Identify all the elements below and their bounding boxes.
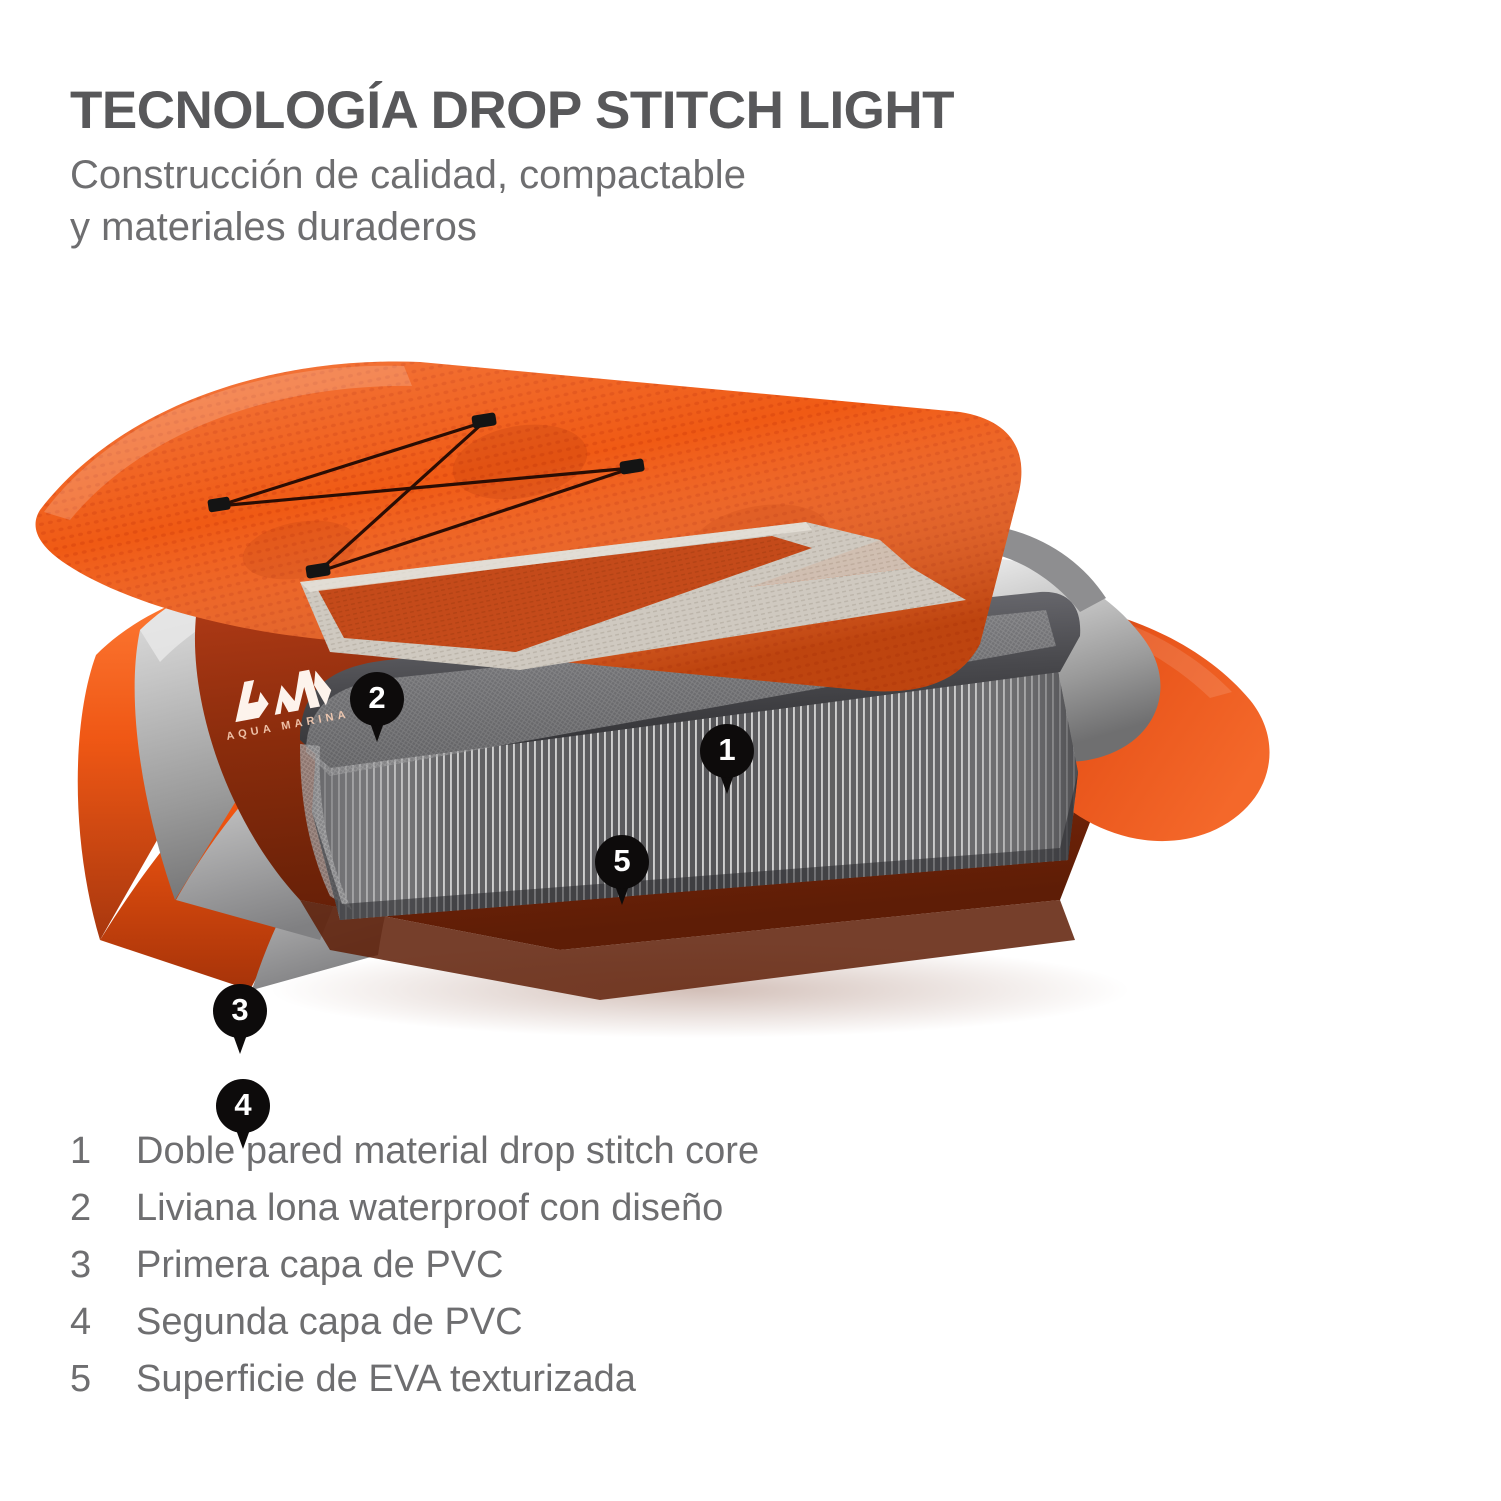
legend-number-1: 1 (70, 1130, 136, 1173)
sup-board-exploded-diagram (0, 300, 1501, 1060)
callout-pin-3[interactable]: 3 (213, 984, 267, 1056)
pin-number-5: 5 (595, 835, 649, 885)
board-illustration: AQUA MARINA 1 2 3 4 5 (0, 300, 1501, 1060)
legend-number-4: 4 (70, 1301, 136, 1344)
legend-label-5: Superficie de EVA texturizada (136, 1358, 636, 1401)
legend-label-1: Doble pared material drop stitch core (136, 1130, 759, 1173)
legend-item-5: 5 Superficie de EVA texturizada (70, 1358, 1170, 1415)
callout-pin-1[interactable]: 1 (700, 724, 754, 796)
legend-number-5: 5 (70, 1358, 136, 1401)
legend-number-2: 2 (70, 1187, 136, 1230)
legend-item-1: 1 Doble pared material drop stitch core (70, 1130, 1170, 1187)
legend-item-3: 3 Primera capa de PVC (70, 1244, 1170, 1301)
drop-shadow (270, 942, 1130, 1038)
callout-pin-2[interactable]: 2 (350, 672, 404, 744)
page-title: TECNOLOGÍA DROP STITCH LIGHT (70, 82, 1370, 139)
legend-list: 1 Doble pared material drop stitch core … (70, 1130, 1170, 1415)
subtitle-line-1: Construcción de calidad, compactable (70, 149, 1370, 201)
legend-label-3: Primera capa de PVC (136, 1244, 504, 1287)
header: TECNOLOGÍA DROP STITCH LIGHT Construcció… (70, 82, 1370, 253)
pin-number-3: 3 (213, 984, 267, 1034)
pin-number-4: 4 (216, 1079, 270, 1129)
callout-pin-5[interactable]: 5 (595, 835, 649, 907)
legend-number-3: 3 (70, 1244, 136, 1287)
pin-number-2: 2 (350, 672, 404, 722)
page-subtitle: Construcción de calidad, compactable y m… (70, 149, 1370, 253)
legend-label-2: Liviana lona waterproof con diseño (136, 1187, 723, 1230)
legend-item-2: 2 Liviana lona waterproof con diseño (70, 1187, 1170, 1244)
pin-number-1: 1 (700, 724, 754, 774)
subtitle-line-2: y materiales duraderos (70, 201, 1370, 253)
legend-item-4: 4 Segunda capa de PVC (70, 1301, 1170, 1358)
legend-label-4: Segunda capa de PVC (136, 1301, 523, 1344)
